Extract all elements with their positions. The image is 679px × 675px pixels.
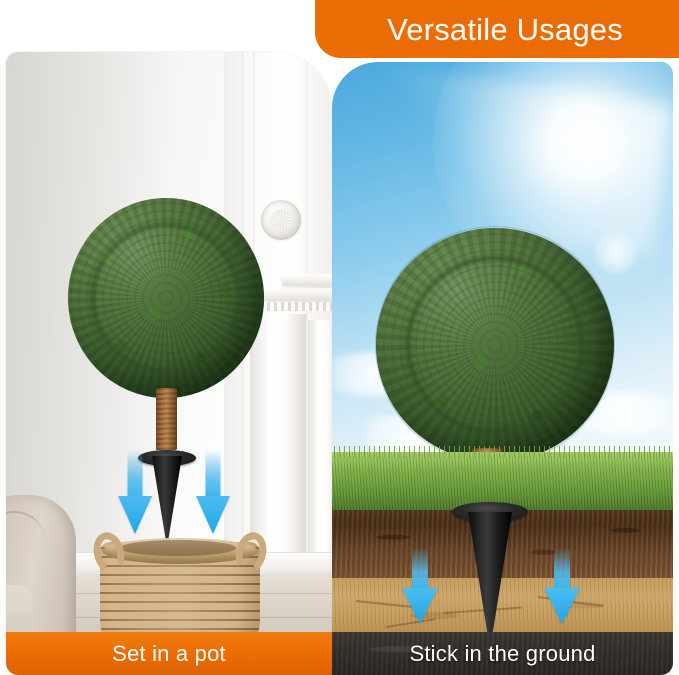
- lens-flare-dot: [593, 230, 639, 276]
- down-arrow-icon: [118, 450, 152, 534]
- caption-bar-outdoor: Stick in the ground: [332, 632, 673, 675]
- panel-outdoor: [332, 62, 673, 671]
- caption-bar-indoor: Set in a pot: [6, 632, 332, 675]
- basket-opening: [120, 540, 236, 556]
- foliage-edge: [62, 192, 270, 404]
- down-arrow-icon: [402, 548, 438, 624]
- caption-text-outdoor: Stick in the ground: [409, 643, 595, 665]
- caption-text-indoor: Set in a pot: [112, 643, 226, 665]
- foliage-edge: [370, 222, 620, 468]
- tree-trunk: [156, 388, 177, 450]
- panel-indoor: [6, 52, 332, 671]
- grass-layer: [332, 452, 673, 510]
- mantel-shelf-upper: [282, 274, 332, 286]
- product-feature-image: Versatile Usages Set in a pot Stick in t…: [0, 0, 679, 675]
- topiary-ball-tree: [68, 198, 264, 398]
- down-arrow-icon: [196, 450, 230, 534]
- mantel-rosette-icon: [261, 200, 301, 240]
- down-arrow-icon: [544, 548, 580, 624]
- page-title: Versatile Usages: [371, 14, 623, 45]
- header-banner: Versatile Usages: [315, 0, 679, 58]
- topiary-ball-tree: [376, 228, 614, 462]
